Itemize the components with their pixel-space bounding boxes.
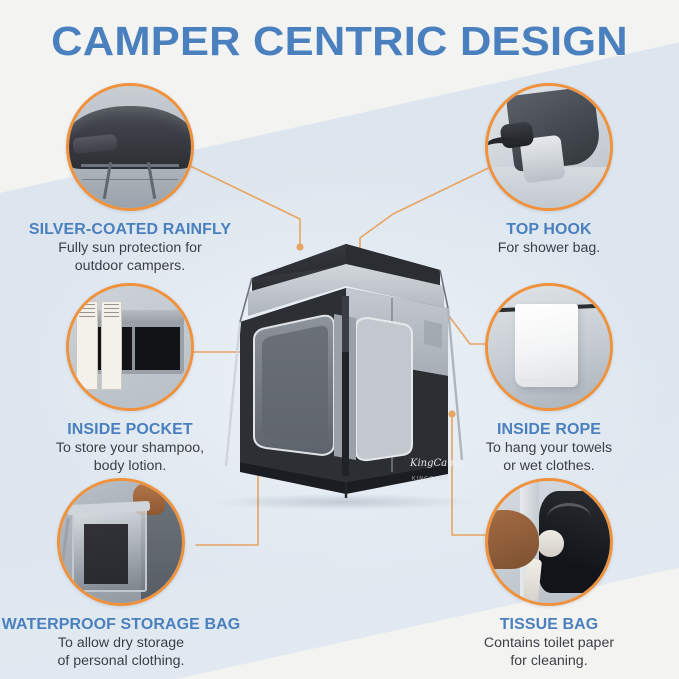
feature-description-line-1: To store your shampoo,	[5, 440, 255, 457]
feature-heading: INSIDE ROPE	[420, 420, 678, 439]
feature-photo-storage-bag	[57, 478, 185, 606]
storage-bag-photo	[60, 481, 182, 603]
feature-description-line-1: To hang your towels	[424, 440, 674, 457]
feature-description-line-2: for cleaning.	[424, 653, 674, 670]
feature-photo-tissue-bag	[485, 478, 613, 606]
feature-inside-rope: INSIDE ROPE To hang your towels or wet c…	[424, 283, 674, 475]
feature-heading: WATERPROOF STORAGE BAG	[0, 615, 250, 634]
feature-photo-top-hook	[485, 83, 613, 211]
feature-top-hook: TOP HOOK For shower bag.	[424, 83, 674, 257]
top-hook-clip-photo	[488, 86, 610, 208]
feature-description-line-2: body lotion.	[5, 458, 255, 475]
feature-heading: TOP HOOK	[420, 220, 678, 239]
feature-tissue-bag: TISSUE BAG Contains toilet paper for cle…	[424, 478, 674, 670]
feature-photo-inside-pocket	[66, 283, 194, 411]
tent-canopy-photo	[69, 86, 191, 208]
feature-description-line-1: Fully sun protection for	[5, 240, 255, 257]
feature-description-line-2: outdoor campers.	[5, 258, 255, 275]
feature-heading: SILVER-COATED RAINFLY	[1, 220, 259, 239]
feature-description-line-1: To allow dry storage	[0, 635, 246, 652]
tissue-pouch-photo	[488, 481, 610, 603]
infographic-canvas: CAMPER CENTRIC DESIGN	[0, 0, 679, 679]
feature-photo-inside-rope	[485, 283, 613, 411]
feature-description-line-2: of personal clothing.	[0, 653, 246, 670]
mesh-organizer-photo	[69, 286, 191, 408]
page-title: CAMPER CENTRIC DESIGN	[0, 17, 679, 65]
feature-photo-rainfly	[66, 83, 194, 211]
feature-description-line-1: For shower bag.	[424, 240, 674, 257]
hanging-towel-photo	[488, 286, 610, 408]
feature-waterproof-storage-bag: WATERPROOF STORAGE BAG To allow dry stor…	[0, 478, 246, 670]
feature-inside-pocket: INSIDE POCKET To store your shampoo, bod…	[5, 283, 255, 475]
feature-description-line-2: or wet clothes.	[424, 458, 674, 475]
feature-heading: TISSUE BAG	[420, 615, 678, 634]
feature-description-line-1: Contains toilet paper	[424, 635, 674, 652]
feature-heading: INSIDE POCKET	[1, 420, 259, 439]
feature-silver-coated-rainfly: SILVER-COATED RAINFLY Fully sun protecti…	[5, 83, 255, 275]
